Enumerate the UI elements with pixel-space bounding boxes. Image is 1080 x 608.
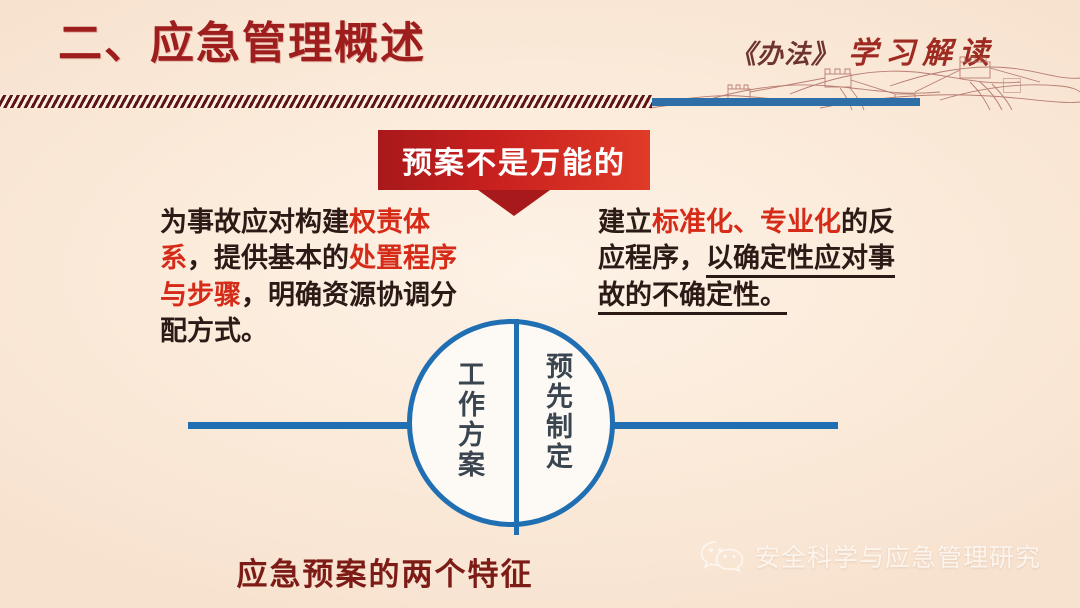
para-left-seg-2: ，提供基本的: [187, 243, 349, 274]
connector-line-left: [188, 422, 418, 429]
slide-canvas: 二、应急管理概述 《办法》 学习解读: [0, 0, 1080, 608]
headline-banner-notch-icon: [478, 190, 550, 216]
header-hatch-rule: [0, 95, 652, 108]
diagram-label-right: 预先制定: [543, 352, 570, 472]
connector-line-right: [606, 422, 838, 429]
diagram-circle: [407, 319, 615, 527]
paragraph-right: 建立标准化、专业化的反应程序，以确定性应对事故的不确定性。: [598, 205, 898, 314]
para-right-seg-1: 标准化、专业化: [652, 207, 841, 238]
header-subtitle: 《办法》 学习解读: [730, 28, 996, 72]
subtitle-action-text: 学习解读: [848, 28, 996, 72]
seal-stamp-icon: [1003, 78, 1021, 93]
para-left-seg-0: 为事故应对构建: [160, 207, 349, 238]
diagram-circle-divider: [514, 319, 519, 535]
headline-banner-text: 预案不是万能的: [402, 138, 626, 182]
para-right-seg-0: 建立: [598, 207, 652, 238]
diagram-label-left: 工作方案: [455, 360, 482, 480]
headline-banner: 预案不是万能的: [378, 130, 650, 190]
diagram-caption: 应急预案的两个特征: [0, 549, 1080, 594]
page-title: 二、应急管理概述: [58, 20, 426, 68]
diagram-caption-text: 应急预案的两个特征: [237, 549, 534, 594]
paragraph-left: 为事故应对构建权责体系，提供基本的处置程序与步骤，明确资源协调分配方式。: [160, 205, 465, 351]
subtitle-book-name: 《办法》: [730, 34, 838, 71]
